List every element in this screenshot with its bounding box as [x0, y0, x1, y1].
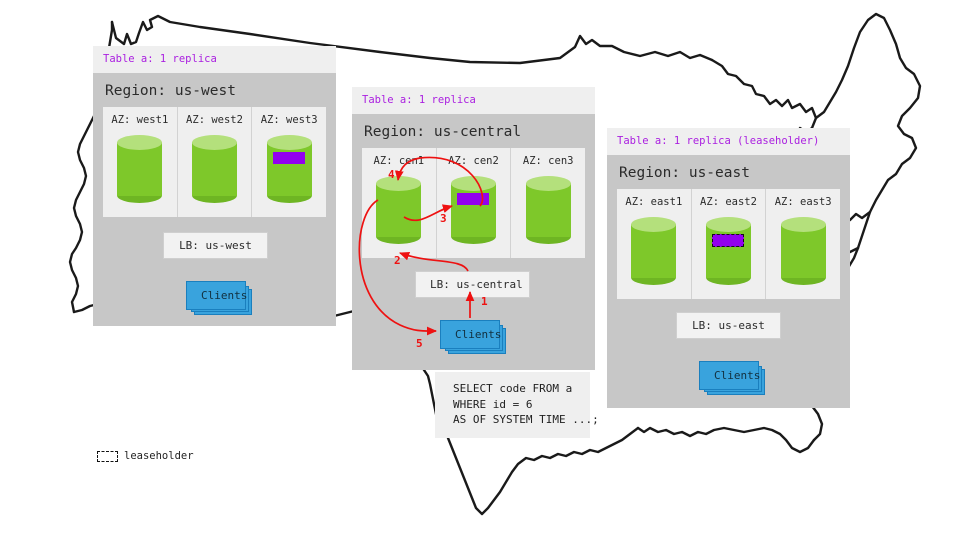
replica-block[interactable] [457, 193, 489, 205]
node-cylinder[interactable] [526, 176, 571, 244]
az-west2[interactable]: AZ: west2 [178, 107, 253, 217]
az-cen1[interactable]: AZ: cen1 [362, 148, 437, 258]
arrow-label-3: 3 [440, 212, 447, 225]
load-balancer-us-central[interactable]: LB: us-central [415, 271, 530, 298]
az-label: AZ: west3 [261, 114, 318, 126]
arrow-label-5: 5 [416, 337, 423, 350]
az-row-us-west: AZ: west1 AZ: west2 AZ: west3 [103, 107, 326, 217]
az-label: AZ: east3 [775, 196, 832, 208]
node-cylinder[interactable] [631, 217, 676, 285]
node-cylinder[interactable] [267, 135, 312, 203]
clients-us-central[interactable]: Clients [440, 320, 500, 349]
az-row-us-east: AZ: east1 AZ: east2 AZ: east3 [617, 189, 840, 299]
region-header-us-west: Table a: 1 replica [93, 46, 336, 73]
az-label: AZ: west1 [111, 114, 168, 126]
replica-block[interactable] [273, 152, 305, 164]
replica-block-leaseholder[interactable] [712, 234, 744, 247]
az-label: AZ: cen3 [523, 155, 574, 167]
clients-us-west[interactable]: Clients [186, 281, 246, 310]
node-cylinder[interactable] [781, 217, 826, 285]
sql-query-box: SELECT code FROM a WHERE id = 6 AS OF SY… [435, 372, 590, 438]
arrow-label-2: 2 [394, 254, 401, 267]
arrow-label-4: 4 [388, 168, 395, 181]
node-cylinder[interactable] [706, 217, 751, 285]
az-east3[interactable]: AZ: east3 [766, 189, 840, 299]
clients-us-east[interactable]: Clients [699, 361, 759, 390]
az-label: AZ: east1 [625, 196, 682, 208]
load-balancer-us-west[interactable]: LB: us-west [163, 232, 268, 259]
clients-label[interactable]: Clients [440, 320, 500, 349]
az-label: AZ: east2 [700, 196, 757, 208]
region-header-us-central: Table a: 1 replica [352, 87, 595, 114]
az-east2[interactable]: AZ: east2 [692, 189, 767, 299]
node-cylinder[interactable] [117, 135, 162, 203]
az-label: AZ: cen2 [448, 155, 499, 167]
az-label: AZ: west2 [186, 114, 243, 126]
leaseholder-swatch-icon [97, 451, 118, 462]
region-title-us-east: Region: us-east [607, 155, 850, 189]
az-east1[interactable]: AZ: east1 [617, 189, 692, 299]
node-cylinder[interactable] [376, 176, 421, 244]
legend-leaseholder: leaseholder [97, 450, 194, 462]
clients-label[interactable]: Clients [186, 281, 246, 310]
node-cylinder[interactable] [451, 176, 496, 244]
node-cylinder[interactable] [192, 135, 237, 203]
region-title-us-central: Region: us-central [352, 114, 595, 148]
region-header-us-east: Table a: 1 replica (leaseholder) [607, 128, 850, 155]
az-west1[interactable]: AZ: west1 [103, 107, 178, 217]
region-title-us-west: Region: us-west [93, 73, 336, 107]
az-west3[interactable]: AZ: west3 [252, 107, 326, 217]
az-cen2[interactable]: AZ: cen2 [437, 148, 512, 258]
az-label: AZ: cen1 [374, 155, 425, 167]
legend-label: leaseholder [124, 450, 194, 462]
az-cen3[interactable]: AZ: cen3 [511, 148, 585, 258]
clients-label[interactable]: Clients [699, 361, 759, 390]
arrow-label-1: 1 [481, 295, 488, 308]
load-balancer-us-east[interactable]: LB: us-east [676, 312, 781, 339]
az-row-us-central: AZ: cen1 AZ: cen2 AZ: cen3 [362, 148, 585, 258]
